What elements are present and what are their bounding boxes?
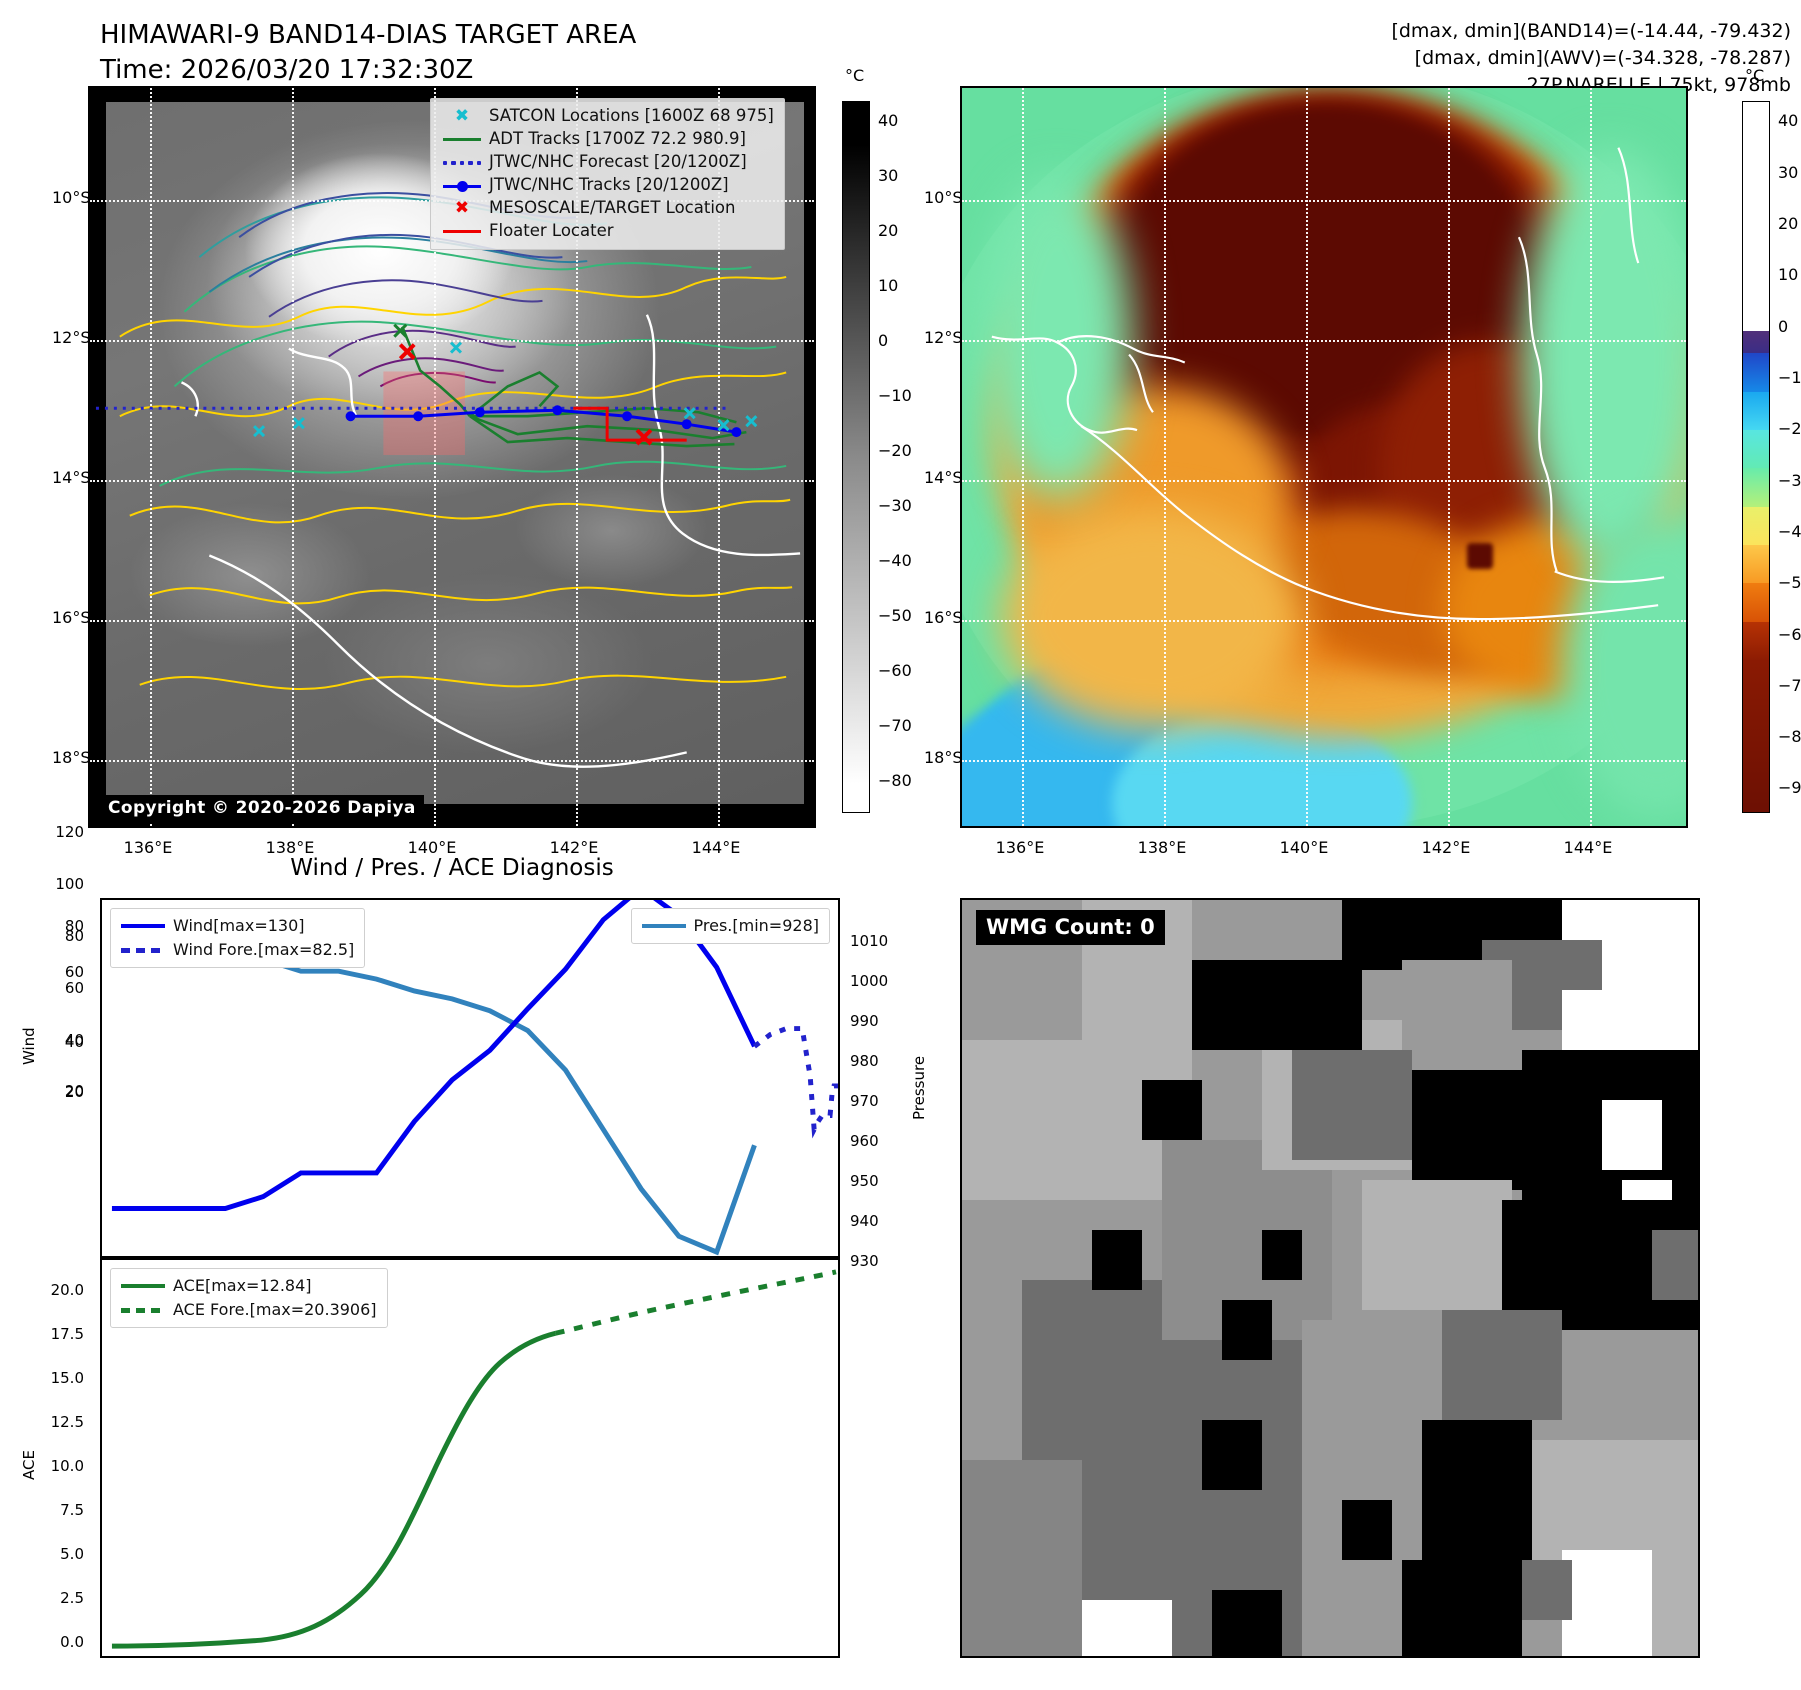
title-line-1: HIMAWARI-9 BAND14-DIAS TARGET AREA	[100, 18, 800, 53]
awv-lon-label-140E: 140°E	[1274, 838, 1334, 857]
diagnosis-chart-title: Wind / Pres. / ACE Diagnosis	[88, 855, 816, 881]
ir-cb-tick-20: 20	[878, 221, 898, 240]
pres-tick-label-960: 960	[850, 1132, 879, 1150]
awv-cb-tick-30: 30	[1778, 163, 1798, 182]
ir-cb-tick-30: 30	[878, 166, 898, 185]
wind-tick-label-120: 120	[22, 823, 84, 841]
legend-item-wind[interactable]: Wind[max=130]	[121, 914, 354, 938]
ir-lat-label-10S: 10°S	[52, 188, 84, 207]
legend-label: Wind Fore.[max=82.5]	[173, 942, 354, 958]
awv-gridline-lon-140E	[1306, 88, 1308, 826]
legend-label: ACE[max=12.84]	[173, 1278, 312, 1294]
awv-cb-tick-0: 0	[1778, 317, 1788, 336]
legend-label: SATCON Locations [1600Z 68 975]	[485, 108, 774, 125]
legend-item-jtwc-forecast[interactable]: JTWC/NHC Forecast [20/1200Z]	[439, 151, 774, 174]
legend-item-ace-forecast[interactable]: ACE Fore.[max=20.3906]	[121, 1298, 377, 1322]
awv-cb-tick-m90: −90	[1778, 778, 1801, 797]
ir-cb-tick-m30: −30	[878, 496, 912, 515]
awv-cb-tick-10: 10	[1778, 265, 1798, 284]
awv-lat-label-10S: 10°S	[924, 188, 956, 207]
legend-label: ADT Tracks [1700Z 72.2 980.9]	[485, 131, 746, 148]
ir-cb-tick-m50: −50	[878, 606, 912, 625]
pressure-line-icon	[642, 924, 694, 928]
awv-lon-label-136E: 136°E	[990, 838, 1050, 857]
ace-tick-label-12p5: 12.5	[22, 1413, 84, 1431]
ir-lat-label-16S: 16°S	[52, 608, 84, 627]
legend-label: MESOSCALE/TARGET Location	[485, 200, 735, 217]
legend-label: Pres.[min=928]	[694, 918, 819, 934]
pres-tick-label-930: 930	[850, 1252, 879, 1270]
wind-chart-legend: Wind[max=130] Wind Fore.[max=82.5]	[110, 908, 365, 968]
wind-axis-label: Wind	[20, 1027, 38, 1065]
ir-cb-tick-m80: −80	[878, 771, 912, 790]
dmax-band14-text: [dmax, dmin](BAND14)=(-14.44, -79.432)	[1151, 18, 1791, 45]
legend-label: JTWC/NHC Tracks [20/1200Z]	[485, 177, 729, 194]
wind-forecast-dotted-icon	[121, 948, 173, 953]
awv-gridline-lon-138E	[1164, 88, 1166, 826]
pres-tick-label-950: 950	[850, 1172, 879, 1190]
awv-cb-tick-40: 40	[1778, 111, 1798, 130]
wind-tick-label-80: 80	[22, 927, 84, 945]
dmax-awv-text: [dmax, dmin](AWV)=(-34.328, -78.287)	[1151, 45, 1791, 72]
wmg-imagery	[962, 900, 1698, 1656]
awv-cb-tick-20: 20	[1778, 214, 1798, 233]
pres-tick-label-990: 990	[850, 1012, 879, 1030]
legend-item-wind-forecast[interactable]: Wind Fore.[max=82.5]	[121, 938, 354, 962]
awv-cb-tick-m70: −70	[1778, 676, 1801, 695]
dashboard-root: HIMAWARI-9 BAND14-DIAS TARGET AREA Time:…	[0, 0, 1801, 1690]
ace-line-icon	[121, 1284, 173, 1288]
awv-cb-tick-m30: −30	[1778, 471, 1801, 490]
ir-map-legend: ✖ SATCON Locations [1600Z 68 975] ADT Tr…	[430, 98, 785, 250]
ir-cb-tick-m10: −10	[878, 386, 912, 405]
awv-lon-label-144E: 144°E	[1558, 838, 1618, 857]
ace-axis-label: ACE	[20, 1450, 38, 1480]
pressure-axis-label: Pressure	[910, 1056, 928, 1120]
ir-lat-label-14S: 14°S	[52, 468, 84, 487]
wmg-count-label: WMG Count: 0	[976, 910, 1165, 945]
mesoscale-x-icon: ✖	[439, 200, 485, 217]
ace-tick-label-15: 15.0	[22, 1369, 84, 1387]
ace-tick-label-7p5: 7.5	[22, 1501, 84, 1519]
wind-tick-label-100: 100	[22, 875, 84, 893]
ir-lat-label-18S: 18°S	[52, 748, 84, 767]
ir-colorbar-unit: °C	[845, 66, 864, 85]
awv-cb-tick-m80: −80	[1778, 727, 1801, 746]
awv-cb-tick-m60: −60	[1778, 625, 1801, 644]
ir-colorbar[interactable]	[842, 101, 870, 813]
legend-item-mesoscale[interactable]: ✖ MESOSCALE/TARGET Location	[439, 197, 774, 220]
awv-lat-label-14S: 14°S	[924, 468, 956, 487]
ir-cb-tick-m60: −60	[878, 661, 912, 680]
ir-band14-map[interactable]: ✖ SATCON Locations [1600Z 68 975] ADT Tr…	[88, 86, 816, 828]
awv-colorbar[interactable]	[1742, 101, 1770, 813]
awv-colorbar-unit: °C	[1745, 66, 1764, 85]
awv-cb-tick-m10: −10	[1778, 368, 1801, 387]
awv-gridline-lat-10S	[962, 200, 1686, 202]
ace-tick-label-0: 0.0	[22, 1633, 84, 1651]
title-line-2: Time: 2026/03/20 17:32:30Z	[100, 53, 800, 88]
awv-cb-tick-m20: −20	[1778, 419, 1801, 438]
legend-label: Wind[max=130]	[173, 918, 305, 934]
awv-gridline-lon-136E	[1022, 88, 1024, 826]
ace-tick-label-5: 5.0	[22, 1545, 84, 1563]
ir-lat-label-12S: 12°S	[52, 328, 84, 347]
awv-gridline-lat-12S	[962, 340, 1686, 342]
wind-pressure-chart[interactable]: Wind[max=130] Wind Fore.[max=82.5] Pres.…	[100, 898, 840, 1258]
awv-enhanced-map[interactable]	[960, 86, 1688, 828]
wind-tick-label-20: 20	[22, 1083, 84, 1101]
legend-item-ace[interactable]: ACE[max=12.84]	[121, 1274, 377, 1298]
ir-cb-tick-0: 0	[878, 331, 888, 350]
legend-item-adt[interactable]: ADT Tracks [1700Z 72.2 980.9]	[439, 128, 774, 151]
ir-cb-tick-10: 10	[878, 276, 898, 295]
pres-tick-label-970: 970	[850, 1092, 879, 1110]
legend-label: JTWC/NHC Forecast [20/1200Z]	[485, 154, 747, 171]
awv-lat-label-16S: 16°S	[924, 608, 956, 627]
legend-label: ACE Fore.[max=20.3906]	[173, 1302, 377, 1318]
awv-coastline	[962, 88, 1686, 826]
awv-gridline-lat-14S	[962, 480, 1686, 482]
ace-chart[interactable]: ACE[max=12.84] ACE Fore.[max=20.3906]	[100, 1258, 840, 1658]
satcon-x-icon: ✖	[439, 108, 485, 125]
legend-item-pressure[interactable]: Pres.[min=928]	[642, 914, 819, 938]
awv-cb-tick-m40: −40	[1778, 522, 1801, 541]
awv-gridline-lon-142E	[1448, 88, 1450, 826]
forecast-dotted-icon	[439, 161, 485, 165]
tracks-line-marker-icon	[439, 184, 485, 188]
legend-item-floater[interactable]: Floater Locater	[439, 220, 774, 243]
pres-tick-label-1010: 1010	[850, 932, 888, 950]
awv-lat-label-12S: 12°S	[924, 328, 956, 347]
wind-line-icon	[121, 924, 173, 928]
pres-tick-label-940: 940	[850, 1212, 879, 1230]
ace-tick-label-20: 20.0	[22, 1281, 84, 1299]
awv-gridline-lat-18S	[962, 760, 1686, 762]
wind-tick-label-60: 60	[22, 979, 84, 997]
ace-tick-label-2p5: 2.5	[22, 1589, 84, 1607]
wmg-count-panel[interactable]: WMG Count: 0	[960, 898, 1700, 1658]
awv-lat-label-18S: 18°S	[924, 748, 956, 767]
floater-line-icon	[439, 230, 485, 233]
ir-cb-tick-40: 40	[878, 111, 898, 130]
legend-item-jtwc-tracks[interactable]: JTWC/NHC Tracks [20/1200Z]	[439, 174, 774, 197]
awv-lon-label-142E: 142°E	[1416, 838, 1476, 857]
awv-cb-tick-m50: −50	[1778, 573, 1801, 592]
ace-chart-legend: ACE[max=12.84] ACE Fore.[max=20.3906]	[110, 1268, 388, 1328]
adt-line-icon	[439, 138, 485, 141]
page-title: HIMAWARI-9 BAND14-DIAS TARGET AREA Time:…	[100, 18, 800, 87]
legend-item-satcon[interactable]: ✖ SATCON Locations [1600Z 68 975]	[439, 105, 774, 128]
ace-forecast-dotted-icon	[121, 1308, 173, 1313]
pres-tick-label-980: 980	[850, 1052, 879, 1070]
ir-cb-tick-m40: −40	[878, 551, 912, 570]
legend-label: Floater Locater	[485, 223, 614, 240]
awv-lon-label-138E: 138°E	[1132, 838, 1192, 857]
ace-tick-label-17p5: 17.5	[22, 1325, 84, 1343]
copyright-notice: Copyright © 2020-2026 Dapiya	[100, 795, 424, 822]
ir-cb-tick-m70: −70	[878, 716, 912, 735]
ir-cb-tick-m20: −20	[878, 441, 912, 460]
pres-tick-label-1000: 1000	[850, 972, 888, 990]
awv-gridline-lon-144E	[1590, 88, 1592, 826]
pressure-chart-legend: Pres.[min=928]	[631, 908, 830, 944]
awv-gridline-lat-16S	[962, 620, 1686, 622]
